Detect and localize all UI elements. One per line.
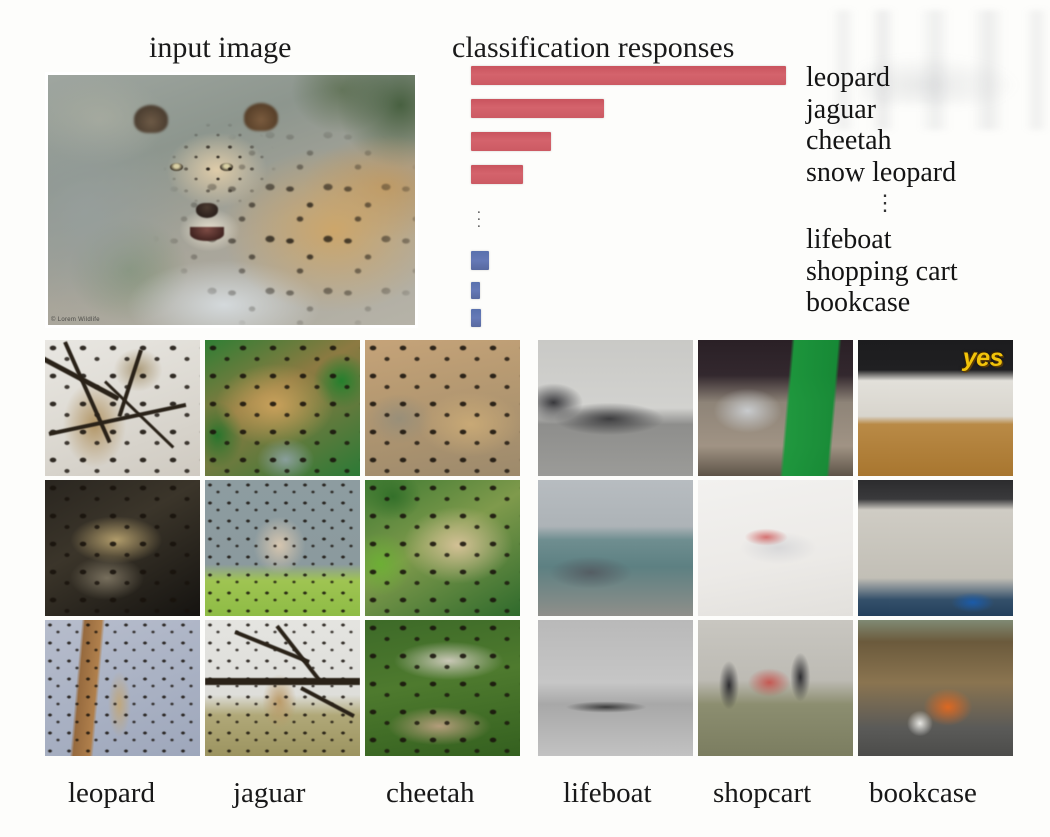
thumb-leopard-in-bare-tree <box>45 340 200 476</box>
thumb-leopard-on-dark-branch <box>45 480 200 616</box>
bar-jaguar <box>471 99 604 118</box>
cheetah-spot-pattern <box>205 620 360 756</box>
thumb-person-in-orange-at-bookshelf <box>858 620 1013 756</box>
caption-lifeboat: lifeboat <box>563 777 652 810</box>
thumb-dark-boat-on-pavement <box>538 340 693 476</box>
caption-shopcart: shopcart <box>713 777 811 810</box>
jaguar-cub-spot-pattern <box>205 480 360 616</box>
caption-jaguar: jaguar <box>233 777 305 810</box>
leopard-mouth-shape <box>190 227 224 241</box>
leopard-ear-right-shape <box>244 103 278 131</box>
thumb-cheetah-behind-bare-tree <box>205 620 360 756</box>
bar-lifeboat <box>471 251 489 270</box>
thumb-harbour-with-ship <box>538 480 693 616</box>
class-label-shopping-cart: shopping cart <box>806 256 1046 288</box>
classification-response-bar-chart: . . . <box>471 66 811 331</box>
bar-snow-leopard <box>471 165 523 184</box>
cheetah-spot-pattern <box>365 480 520 616</box>
thumb-leopard-tail-over-trunk <box>45 620 200 756</box>
bar-shopping-cart <box>471 282 480 299</box>
cheetah-spot-pattern <box>365 620 520 756</box>
class-label-ellipsis: ⋮ <box>806 188 1046 224</box>
animal-class-exemplar-grid <box>45 340 520 760</box>
caption-cheetah: cheetah <box>386 777 475 810</box>
class-label-snow-leopard: snow leopard <box>806 157 1046 189</box>
leopard-tail-spot-pattern <box>45 620 200 756</box>
class-label-leopard: leopard <box>806 62 1046 94</box>
caption-bookcase: bookcase <box>869 777 977 810</box>
image-credit-text: © Lorem Wildlife <box>51 317 100 323</box>
jaguar-spot-pattern <box>205 340 360 476</box>
page-title-classification-responses: classification responses <box>452 31 734 65</box>
caption-leopard: leopard <box>68 777 155 810</box>
thumb-cheetah-face-on-green <box>365 480 520 616</box>
thumb-bookcase-with-yes-caption: yes <box>858 340 1013 476</box>
bar-leopard <box>471 66 786 85</box>
input-image-frame: © Lorem Wildlife <box>45 72 418 328</box>
leopard-nose-shape <box>196 203 218 218</box>
object-class-exemplar-grid: yes <box>538 340 1013 760</box>
tree-branch-shape <box>205 678 360 685</box>
input-image-leopard-photo: © Lorem Wildlife <box>48 75 415 325</box>
leopard-spot-pattern <box>45 480 200 616</box>
chart-vertical-ellipsis: . . . <box>477 206 485 227</box>
yes-caption-badge: yes <box>963 344 1003 373</box>
thumb-white-red-cart-on-white <box>698 480 853 616</box>
thumb-people-carrying-red-cart <box>698 620 853 756</box>
class-label-list: leopard jaguar cheetah snow leopard ⋮ li… <box>806 62 1046 319</box>
class-label-bookcase: bookcase <box>806 287 1046 319</box>
bar-cheetah <box>471 132 551 151</box>
class-label-lifeboat: lifeboat <box>806 224 1046 256</box>
leopard-ear-left-shape <box>134 105 168 133</box>
bar-bookcase <box>471 309 481 327</box>
ellipsis-dot-3: . <box>477 220 485 227</box>
cheetah-spot-pattern <box>365 340 520 476</box>
class-label-jaguar: jaguar <box>806 94 1046 126</box>
thumb-jaguar-cub-in-grass <box>205 480 360 616</box>
class-label-cheetah: cheetah <box>806 125 1046 157</box>
leopard-eye-right-shape <box>220 163 233 171</box>
thumb-cheetahs-on-sand <box>365 340 520 476</box>
thumb-jaguar-on-green-foliage <box>205 340 360 476</box>
thumb-cheetah-lying-on-grass <box>365 620 520 756</box>
thumb-shopping-carts-by-green-dumpster <box>698 340 853 476</box>
leopard-eye-left-shape <box>170 163 183 171</box>
thumb-bookcase-with-blue-couch <box>858 480 1013 616</box>
page-title-input-image: input image <box>149 31 291 65</box>
thumb-greyscale-water-lifeboat <box>538 620 693 756</box>
